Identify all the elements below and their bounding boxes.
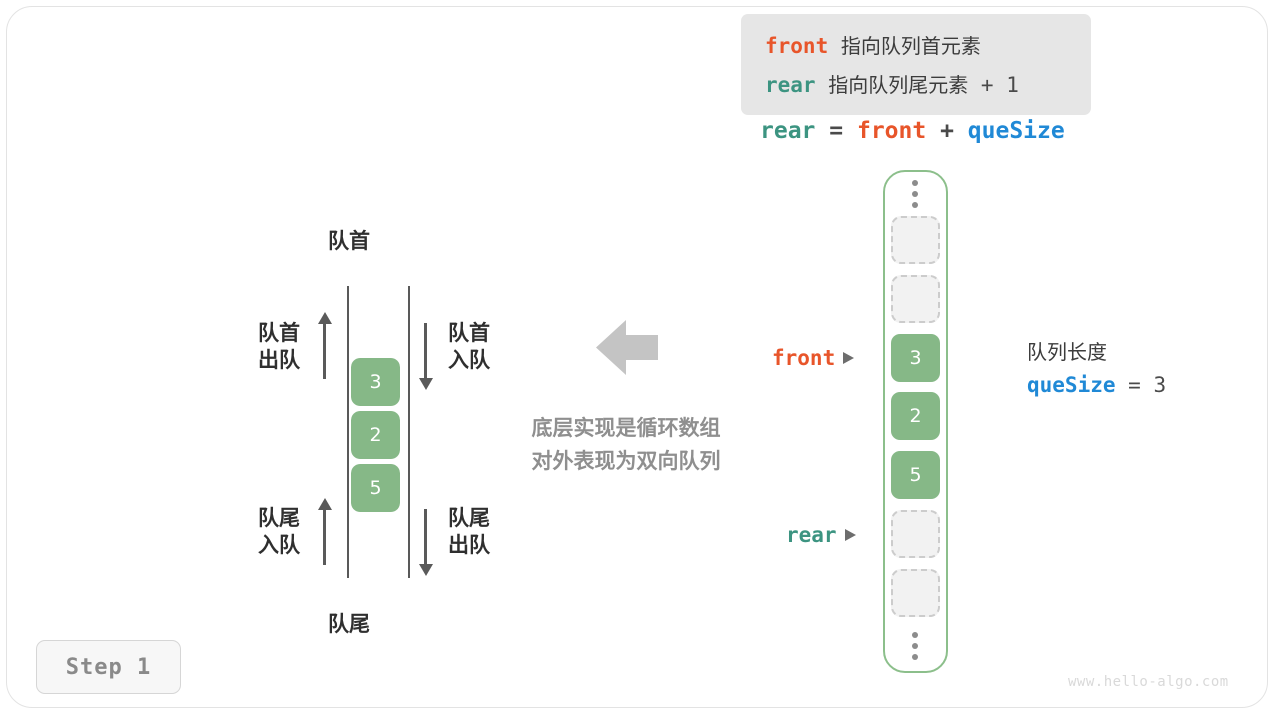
array-empty-slot — [891, 216, 940, 264]
arrow-up-front-dequeue-icon — [323, 323, 326, 379]
label-front-dequeue: 队首 出队 — [180, 320, 300, 374]
label-front-enqueue: 队首 入队 — [448, 320, 578, 374]
front-pointer-label: front — [772, 346, 835, 370]
formula-equals: = — [829, 118, 843, 144]
deque-rail-left — [347, 286, 349, 578]
implementation-note: 底层实现是循环数组 对外表现为双向队列 — [504, 412, 748, 478]
array-empty-slot — [891, 569, 940, 617]
rear-pointer: rear — [786, 523, 856, 547]
arrow-down-front-enqueue-icon — [424, 323, 427, 379]
arrow-down-tail-dequeue-icon — [424, 509, 427, 565]
label-tail-dequeue: 队尾 出队 — [448, 505, 578, 559]
legend-rear-op: + — [981, 73, 994, 97]
legend-line-front: front 指向队列首元素 — [765, 27, 1091, 66]
array-value-cell: 2 — [891, 392, 940, 440]
ellipsis-bottom-icon — [912, 632, 918, 660]
front-pointer-arrow-icon — [843, 352, 854, 364]
arrow-up-tail-enqueue-icon — [323, 509, 326, 565]
label-front-dequeue-line2: 出队 — [180, 347, 300, 374]
legend-rear-value: 1 — [1006, 73, 1019, 97]
quesize-equals: = — [1128, 373, 1141, 397]
label-tail-enqueue-line1: 队尾 — [180, 505, 300, 532]
quesize-value: 3 — [1153, 373, 1166, 397]
legend-front-symbol: front — [765, 34, 828, 58]
formula-rear: rear — [760, 118, 815, 144]
label-front-enqueue-line2: 入队 — [448, 347, 578, 374]
watermark: www.hello-algo.com — [1068, 674, 1229, 690]
formula-front: front — [857, 118, 926, 144]
quesize-annotation-expr: queSize = 3 — [1027, 368, 1166, 402]
quesize-annotation-label: 队列长度 — [1027, 338, 1166, 368]
label-tail-dequeue-line1: 队尾 — [448, 505, 578, 532]
implementation-arrow-left-icon — [596, 320, 658, 375]
formula-plus: + — [940, 118, 954, 144]
deque-rail-right — [408, 286, 410, 578]
legend-rear-symbol: rear — [765, 73, 816, 97]
array-empty-slot — [891, 275, 940, 323]
label-tail-enqueue: 队尾 入队 — [180, 505, 300, 559]
pointer-legend-box: front 指向队列首元素 rear 指向队列尾元素 + 1 — [741, 14, 1091, 115]
implementation-note-line2: 对外表现为双向队列 — [504, 445, 748, 478]
rear-pointer-label: rear — [786, 523, 837, 547]
label-front-dequeue-line1: 队首 — [180, 320, 300, 347]
quesize-var: queSize — [1027, 373, 1116, 397]
array-value-cell: 5 — [891, 451, 940, 499]
label-tail-dequeue-line2: 出队 — [448, 532, 578, 559]
deque-cell: 2 — [351, 411, 400, 459]
legend-rear-text: 指向队列尾元素 — [828, 75, 968, 97]
deque-cell: 3 — [351, 358, 400, 406]
deque-head-label: 队首 — [328, 228, 370, 255]
pointer-formula: rear = front + queSize — [760, 118, 1065, 144]
implementation-note-line1: 底层实现是循环数组 — [504, 412, 748, 445]
array-empty-slot — [891, 510, 940, 558]
label-front-enqueue-line1: 队首 — [448, 320, 578, 347]
array-value-cell: 3 — [891, 334, 940, 382]
front-pointer: front — [772, 346, 854, 370]
diagram-canvas: front 指向队列首元素 rear 指向队列尾元素 + 1 rear = fr… — [0, 0, 1280, 720]
label-tail-enqueue-line2: 入队 — [180, 532, 300, 559]
quesize-annotation: 队列长度 queSize = 3 — [1027, 338, 1166, 402]
formula-quesize: queSize — [968, 118, 1065, 144]
step-badge: Step 1 — [36, 640, 181, 694]
ellipsis-top-icon — [912, 180, 918, 208]
deque-cell: 5 — [351, 464, 400, 512]
rear-pointer-arrow-icon — [845, 529, 856, 541]
legend-line-rear: rear 指向队列尾元素 + 1 — [765, 66, 1091, 105]
deque-tail-label: 队尾 — [328, 611, 370, 638]
legend-front-text: 指向队列首元素 — [841, 36, 981, 58]
